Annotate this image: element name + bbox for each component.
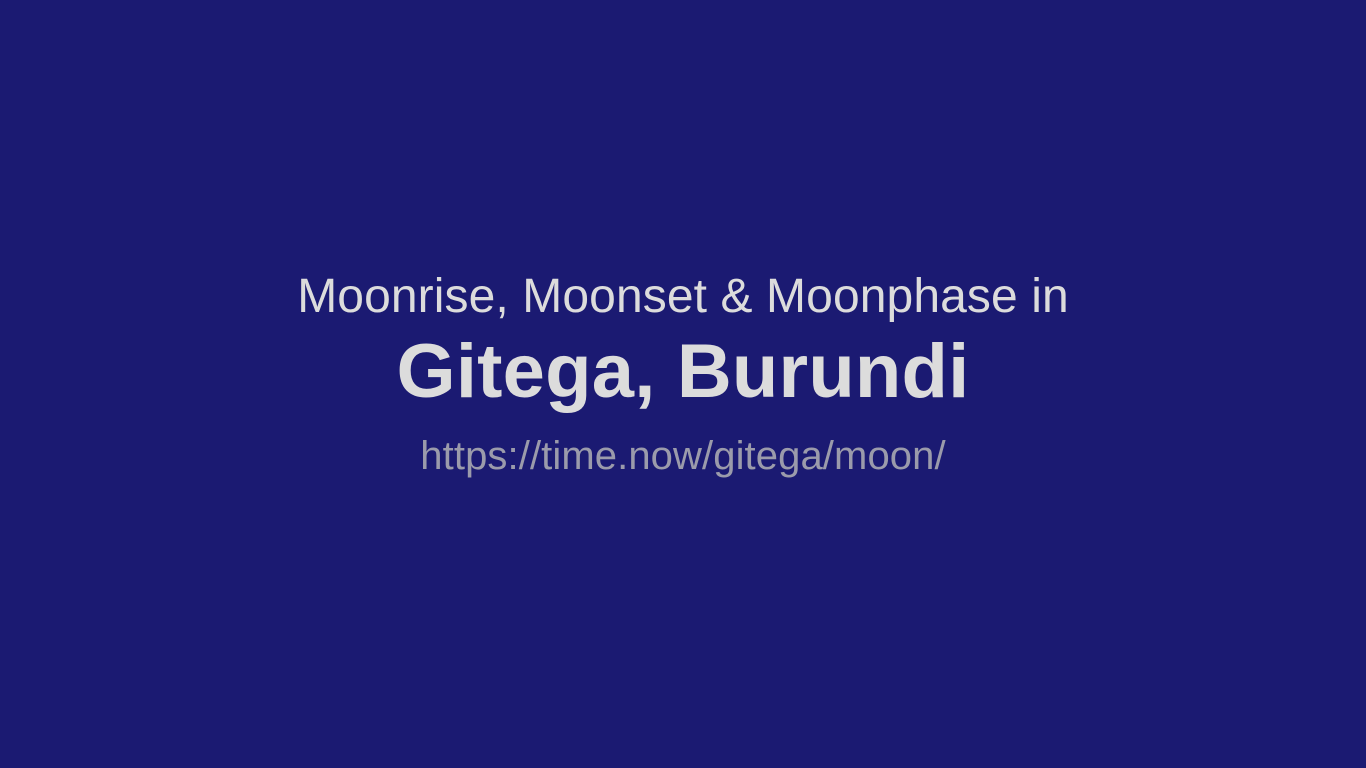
location-title: Gitega, Burundi [0,326,1366,418]
source-url-link[interactable]: https://time.now/gitega/moon/ [0,428,1366,484]
splash-screen: Moonrise, Moonset & Moonphase in Gitega,… [0,0,1366,768]
page-title: Moonrise, Moonset & Moonphase in [0,268,1366,326]
splash-content: Moonrise, Moonset & Moonphase in Gitega,… [0,268,1366,484]
